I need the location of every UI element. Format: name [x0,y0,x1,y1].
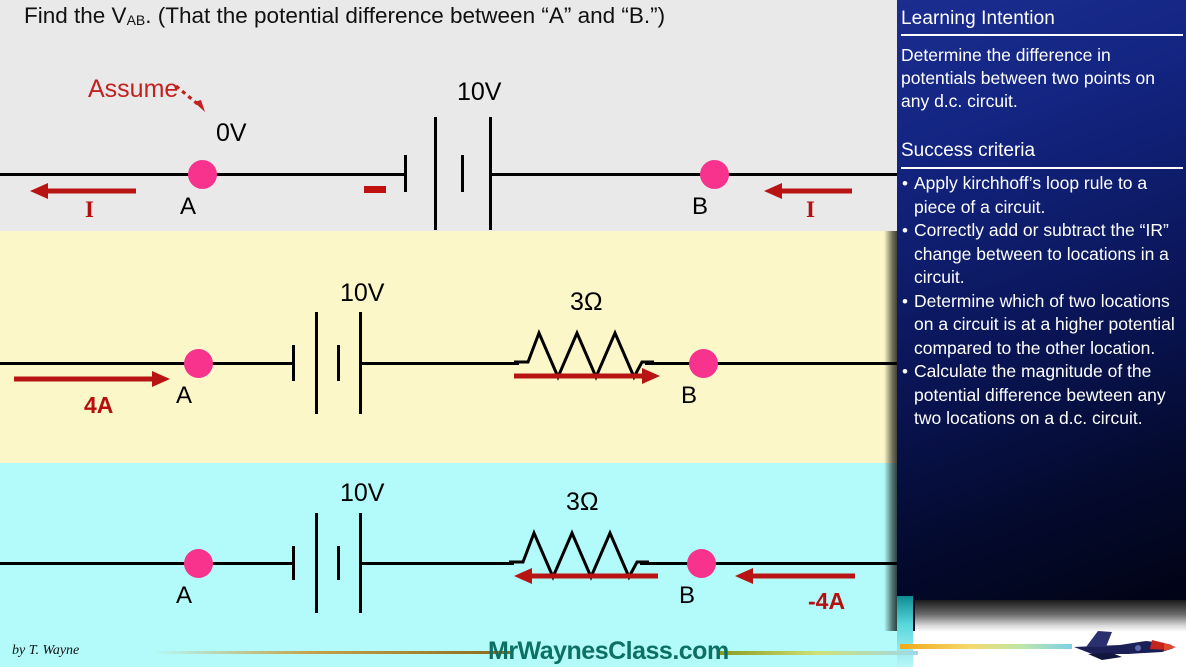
resistor-label-2: 3Ω [570,288,603,317]
battery-plate-long-2a [315,312,318,414]
wire-left-2 [0,362,292,365]
footer-background-left [0,631,897,667]
list-item: Correctly add or subtract the “IR” chang… [901,219,1186,290]
jet-trail [900,644,1072,649]
list-item: Calculate the magnitude of the potential… [901,360,1186,431]
current-label-right-1: I [806,197,815,223]
wire-mid-3 [359,562,514,565]
node-b-dot-2 [689,349,718,378]
battery-plate-short-1b [461,155,464,192]
battery-plate-long-1a [434,117,437,230]
page-title: Find the VAB. (That the potential differ… [24,3,665,29]
current-label-right-3: -4A [808,588,845,615]
wire-mid-2 [359,362,519,365]
assume-pointer-arrow-icon [174,82,214,114]
title-main: Find the V [24,3,127,28]
battery-plate-long-3a [315,513,318,613]
circuit-panel-2 [0,231,897,463]
node-a-label-2: A [176,382,192,410]
current-arrow-left-1-icon [28,180,138,202]
wire-right-1 [489,173,897,176]
battery-plate-short-1a [404,155,407,192]
circuit-panel-3 [0,463,897,631]
learning-intention-panel: Learning Intention Determine the differe… [897,0,1186,631]
panel-shadow [884,231,898,631]
learning-intention-body: Determine the difference in potentials b… [901,44,1185,113]
battery-voltage-label-3: 10V [340,479,384,508]
battery-plate-short-3a [292,546,295,580]
node-b-dot-3 [687,549,716,578]
node-a-dot-3 [184,549,213,578]
node-a-label-3: A [176,582,192,610]
battery-voltage-label-1: 10V [457,78,501,107]
node-b-label-3: B [679,582,695,610]
current-label-left-2: 4A [84,392,113,419]
node-a-dot-1 [188,160,217,189]
divider-1 [901,34,1183,36]
current-arrow-resistor-3-icon [512,565,660,587]
node-b-dot-1 [700,160,729,189]
wire-right-2 [645,362,897,365]
node-b-label-1: B [692,193,708,221]
node-a-dot-2 [184,349,213,378]
title-subscript: AB [127,12,146,28]
title-rest: . (That the potential difference between… [145,3,665,28]
node-b-label-2: B [681,382,697,410]
node-a-potential-label: 0V [216,119,247,148]
list-item: Apply kirchhoff’s loop rule to a piece o… [901,172,1186,219]
footer-rule-left [150,651,510,654]
jet-plane-icon [1068,627,1180,661]
resistor-label-3: 3Ω [566,488,599,517]
assume-label: Assume [88,75,178,104]
current-arrow-resistor-2-icon [514,365,662,387]
battery-plate-short-3b [337,546,340,580]
list-item: Determine which of two locations on a ci… [901,290,1186,361]
battery-voltage-label-2: 10V [340,279,384,308]
current-label-left-1: I [85,197,94,223]
slide-canvas: Find the VAB. (That the potential differ… [0,0,1186,667]
current-arrow-left-2-icon [14,368,172,390]
footer-accent-bar [897,596,913,667]
wire-left-3 [0,562,292,565]
battery-plate-short-2a [292,345,295,381]
website-label: MrWaynesClass.com [488,637,729,666]
footer-rule-right [718,651,918,655]
node-a-label-1: A [180,193,196,221]
battery-plate-short-2b [337,345,340,381]
current-arrow-right-3-icon [733,565,857,587]
success-criteria-title: Success criteria [901,140,1035,162]
battery-negative-sign-1 [364,186,386,193]
success-criteria-list: Apply kirchhoff’s loop rule to a piece o… [897,172,1186,431]
divider-2 [901,167,1183,169]
author-credit: by T. Wayne [12,643,79,659]
learning-intention-title: Learning Intention [901,8,1055,30]
